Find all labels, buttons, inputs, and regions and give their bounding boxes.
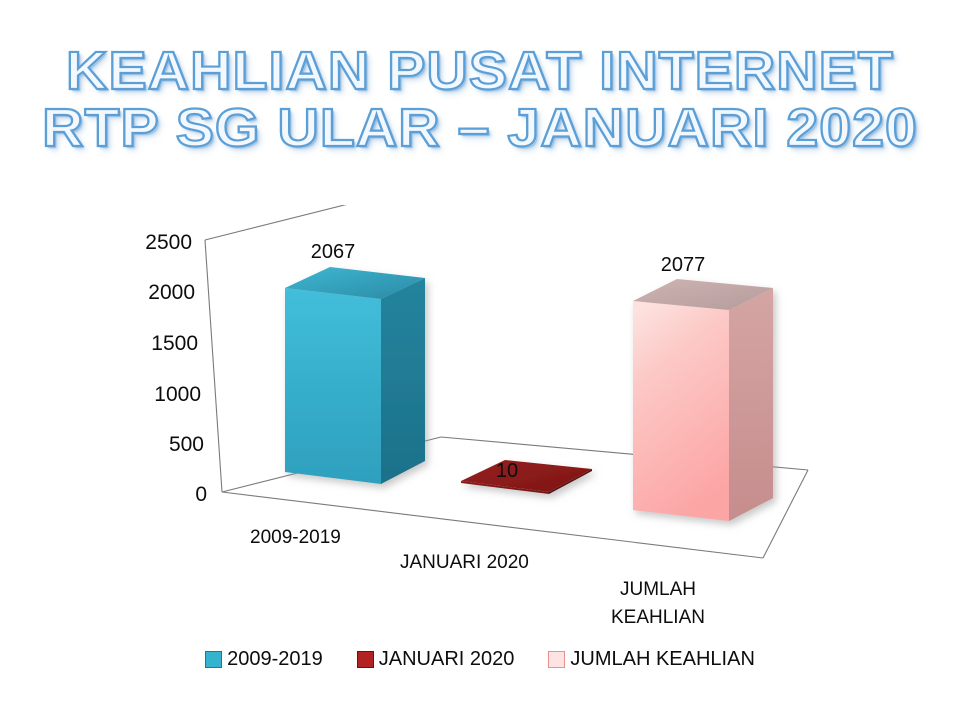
- axis-tick-0: 0: [195, 483, 207, 506]
- value-axis-top-depth: [205, 205, 424, 240]
- bar-2009-2019-front-face: [285, 288, 381, 484]
- legend-label-2009-2019: 2009-2019: [227, 648, 323, 671]
- chart-svg: 2500 2000 1500 1000 500 0 2067: [0, 205, 960, 645]
- legend-item-januari-2020[interactable]: JANUARI 2020: [357, 648, 515, 671]
- axis-tick-2500: 2500: [145, 231, 192, 254]
- slide-canvas: KEAHLIAN PUSAT INTERNET RTP SG ULAR – JA…: [0, 0, 960, 720]
- legend-swatch-januari-2020-icon: [357, 651, 374, 668]
- category-label-januari-2020: JANUARI 2020: [400, 552, 529, 573]
- bar-januari-2020-value-label: 10: [496, 460, 518, 482]
- bar-jumlah-keahlian-side-face: [729, 288, 773, 521]
- title-line-2: RTP SG ULAR – JANUARI 2020: [0, 101, 960, 156]
- page-title: KEAHLIAN PUSAT INTERNET RTP SG ULAR – JA…: [0, 44, 960, 156]
- legend-label-jumlah-keahlian: JUMLAH KEAHLIAN: [570, 648, 755, 671]
- bar-jumlah-keahlian[interactable]: [633, 279, 773, 521]
- value-axis-line: [205, 240, 222, 492]
- axis-tick-500: 500: [169, 433, 204, 456]
- bar-jumlah-keahlian-value-label: 2077: [661, 254, 706, 276]
- bar-2009-2019-side-face: [381, 278, 425, 484]
- legend-item-jumlah-keahlian[interactable]: JUMLAH KEAHLIAN: [548, 648, 755, 671]
- legend-swatch-2009-2019-icon: [205, 651, 222, 668]
- bar-jumlah-keahlian-front-face: [633, 301, 729, 521]
- chart-legend: 2009-2019 JANUARI 2020 JUMLAH KEAHLIAN: [0, 648, 960, 671]
- axis-tick-1500: 1500: [151, 332, 198, 355]
- legend-item-2009-2019[interactable]: 2009-2019: [205, 648, 323, 671]
- category-label-2009-2019: 2009-2019: [250, 527, 341, 548]
- legend-swatch-jumlah-keahlian-icon: [548, 651, 565, 668]
- category-label-jumlah-keahlian-line2: KEAHLIAN: [611, 607, 705, 628]
- legend-label-januari-2020: JANUARI 2020: [379, 648, 515, 671]
- category-label-jumlah-keahlian-line1: JUMLAH: [620, 579, 696, 600]
- value-axis-tick-labels: 2500 2000 1500 1000 500 0: [145, 231, 207, 506]
- axis-tick-2000: 2000: [148, 281, 195, 304]
- bar-chart-3d: 2500 2000 1500 1000 500 0 2067: [0, 205, 960, 645]
- bar-2009-2019-value-label: 2067: [311, 241, 356, 263]
- bar-2009-2019[interactable]: [285, 267, 425, 484]
- axis-tick-1000: 1000: [154, 383, 201, 406]
- title-line-1: KEAHLIAN PUSAT INTERNET: [0, 44, 960, 99]
